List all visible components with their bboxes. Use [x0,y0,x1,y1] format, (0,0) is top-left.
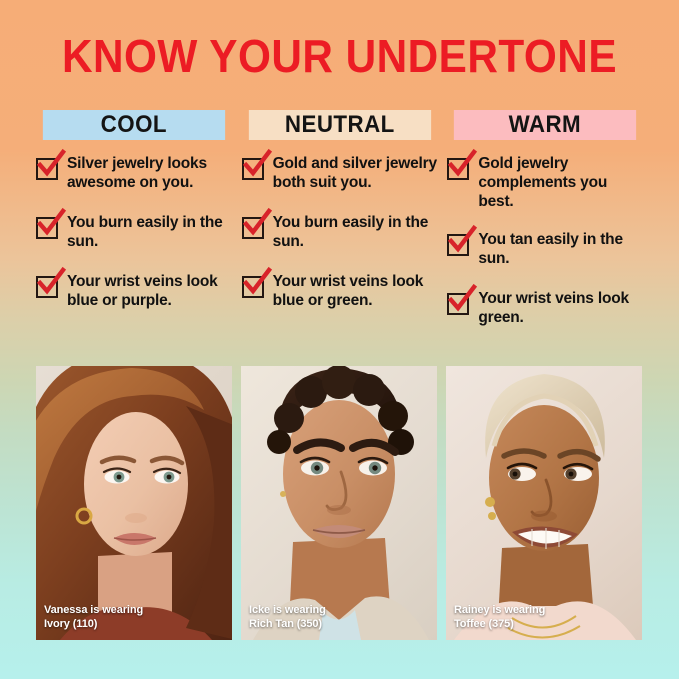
checklist-item-label: Your wrist veins look green. [478,290,643,328]
column-header-warm: WARM [454,110,636,140]
checklist-item-label: Gold and silver jewelry both suit you. [273,155,438,193]
undertone-columns: COOL Silver jewelry looks awesome on you… [36,110,643,349]
model-photo-icke[interactable]: Icke is wearing Rich Tan (350) [241,366,437,640]
photo-caption-line2: Rich Tan (350) [249,618,326,631]
checklist-item[interactable]: Your wrist veins look green. [447,290,643,330]
checklist-item-label: Silver jewelry looks awesome on you. [67,155,232,193]
photo-caption: Icke is wearing Rich Tan (350) [249,604,326,631]
checkbox-checked-icon[interactable] [447,293,469,315]
column-header-neutral: NEUTRAL [249,110,431,140]
checkbox-checked-icon[interactable] [447,234,469,256]
photo-caption: Rainey is wearing Toffee (375) [454,604,545,631]
checklist-item[interactable]: Gold jewelry complements you best. [447,155,643,212]
photo-caption-line1: Rainey is wearing [454,604,545,617]
checklist-item[interactable]: Gold and silver jewelry both suit you. [242,155,438,195]
column-header-cool: COOL [43,110,225,140]
model-photo-vanessa[interactable]: Vanessa is wearing Ivory (110) [36,366,232,640]
checkbox-checked-icon[interactable] [242,217,264,239]
column-neutral: NEUTRAL Gold and silver jewelry both sui… [242,110,438,349]
checkbox-checked-icon[interactable] [242,158,264,180]
checkbox-checked-icon[interactable] [447,158,469,180]
checkbox-checked-icon[interactable] [242,276,264,298]
column-cool: COOL Silver jewelry looks awesome on you… [36,110,232,349]
photo-caption-line2: Toffee (375) [454,618,545,631]
photo-caption-line1: Vanessa is wearing [44,604,143,617]
checkbox-checked-icon[interactable] [36,158,58,180]
checklist-item-label: You tan easily in the sun. [478,231,643,269]
checklist-item[interactable]: You tan easily in the sun. [447,231,643,271]
portrait-illustration-icke [241,366,437,640]
checklist-item-label: Your wrist veins look blue or green. [273,273,438,311]
photo-caption: Vanessa is wearing Ivory (110) [44,604,143,631]
checklist-item[interactable]: Your wrist veins look blue or green. [242,273,438,313]
page-title: KNOW YOUR UNDERTONE [27,33,652,79]
checkbox-checked-icon[interactable] [36,217,58,239]
portrait-illustration-vanessa [36,366,232,640]
checklist-item-label: You burn easily in the sun. [273,214,438,252]
checklist-item[interactable]: Silver jewelry looks awesome on you. [36,155,232,195]
checklist-item-label: Your wrist veins look blue or purple. [67,273,232,311]
photo-caption-line1: Icke is wearing [249,604,326,617]
checklist-item[interactable]: You burn easily in the sun. [36,214,232,254]
model-photo-row: Vanessa is wearing Ivory (110) [36,366,643,640]
checkbox-checked-icon[interactable] [36,276,58,298]
checklist-item[interactable]: You burn easily in the sun. [242,214,438,254]
checklist-item-label: Gold jewelry complements you best. [478,155,643,212]
checklist-item-label: You burn easily in the sun. [67,214,232,252]
portrait-illustration-rainey [446,366,642,640]
checklist-warm: Gold jewelry complements you best. You t… [447,155,643,330]
undertone-infographic: KNOW YOUR UNDERTONE COOL Silver jewelry … [0,0,679,679]
model-photo-rainey[interactable]: Rainey is wearing Toffee (375) [446,366,642,640]
photo-caption-line2: Ivory (110) [44,618,143,631]
checklist-cool: Silver jewelry looks awesome on you. You… [36,155,232,313]
checklist-item[interactable]: Your wrist veins look blue or purple. [36,273,232,313]
checklist-neutral: Gold and silver jewelry both suit you. Y… [242,155,438,313]
column-warm: WARM Gold jewelry complements you best. [447,110,643,349]
